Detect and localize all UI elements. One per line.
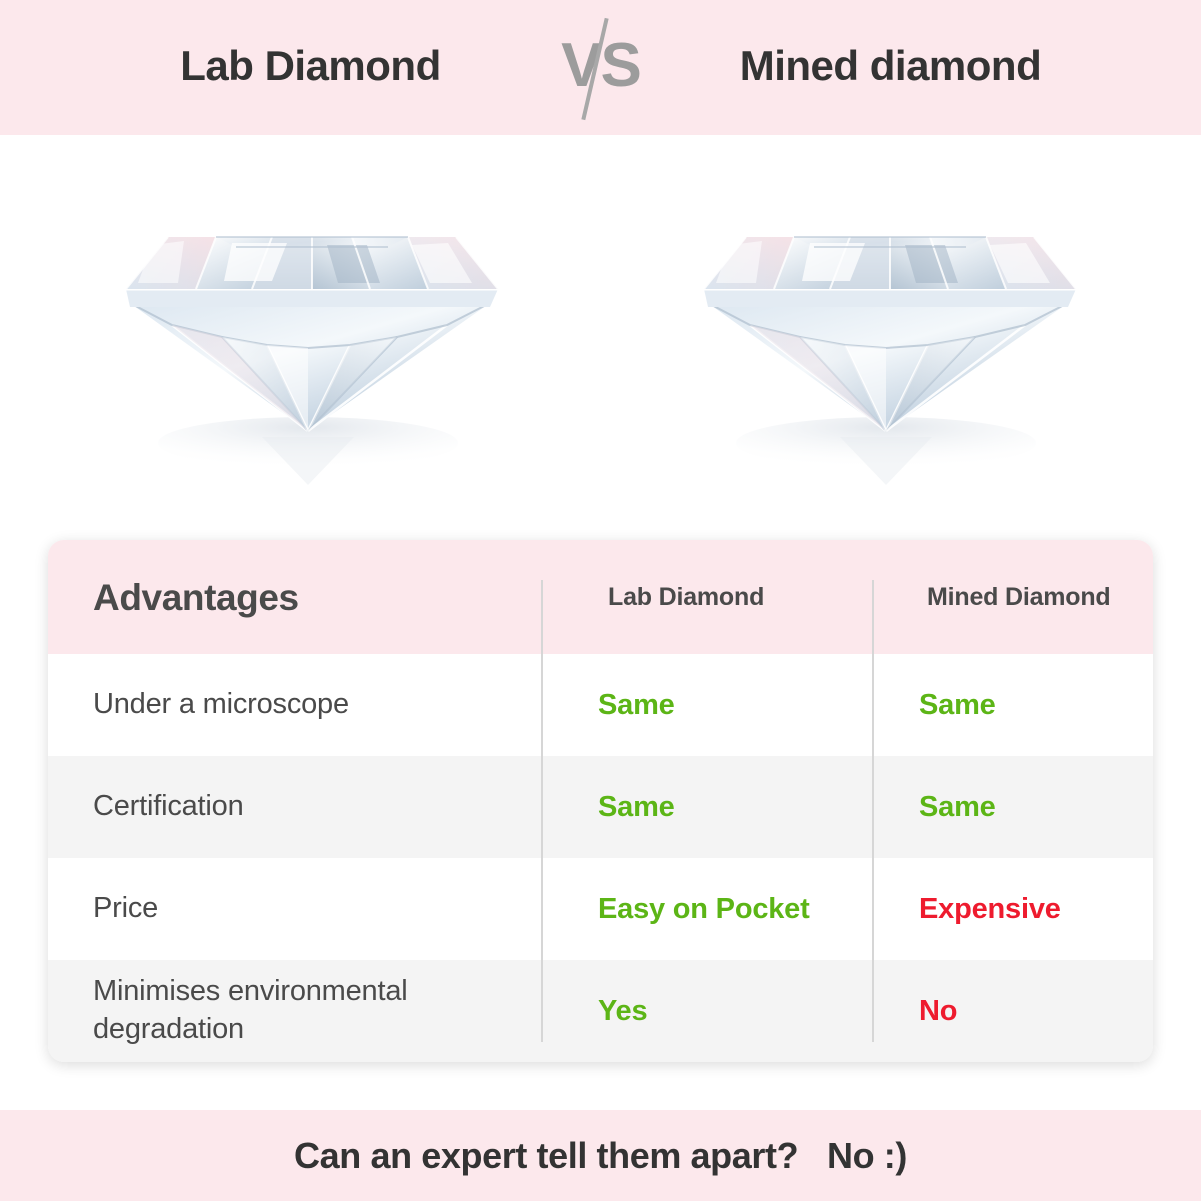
table-row: Minimises environmental degradation Yes …	[48, 960, 1153, 1062]
diamond-icon	[690, 185, 1090, 485]
mined-value-cell: Same	[872, 688, 1153, 723]
table-row: Under a microscope Same Same	[48, 654, 1153, 756]
comparison-table: Advantages Lab Diamond Mined Diamond Und…	[48, 540, 1153, 1062]
lab-value-cell: Yes	[541, 994, 872, 1029]
diamond-icon	[112, 185, 512, 485]
feature-label: Certification	[93, 790, 244, 822]
column-divider-1	[541, 580, 543, 1042]
header-band: Lab Diamond VS Mined diamond	[0, 0, 1201, 135]
column-divider-2	[872, 580, 874, 1042]
feature-cell: Under a microscope	[48, 686, 541, 724]
comparison-infographic: Lab Diamond VS Mined diamond	[0, 0, 1201, 1201]
lab-value-cell: Easy on Pocket	[541, 892, 872, 927]
column-title-mined-diamond: Mined Diamond	[919, 583, 1111, 611]
footer-question: Can an expert tell them apart? No :)	[294, 1138, 907, 1174]
mined-value-cell: Same	[872, 790, 1153, 825]
mined-value: Same	[919, 689, 996, 721]
lab-diamond-image	[112, 185, 512, 485]
column-title-lab-diamond: Lab Diamond	[598, 583, 764, 611]
lab-value-cell: Same	[541, 790, 872, 825]
lab-value-cell: Same	[541, 688, 872, 723]
table-row: Price Easy on Pocket Expensive	[48, 858, 1153, 960]
column-title-advantages: Advantages	[93, 577, 299, 618]
page-title-mined-diamond: Mined diamond	[656, 45, 1126, 87]
comparison-table-card: Advantages Lab Diamond Mined Diamond Und…	[48, 540, 1153, 1062]
table-header-cell-lab: Lab Diamond	[541, 585, 872, 610]
footer-band: Can an expert tell them apart? No :)	[0, 1110, 1201, 1201]
lab-value: Same	[598, 791, 675, 823]
table-header-cell-advantages: Advantages	[48, 579, 541, 616]
table-header-row: Advantages Lab Diamond Mined Diamond	[48, 540, 1153, 654]
header-inner: Lab Diamond VS Mined diamond	[0, 11, 1201, 125]
mined-value: Expensive	[919, 893, 1061, 925]
page-title-lab-diamond: Lab Diamond	[76, 45, 546, 87]
versus-badge: VS	[546, 11, 656, 121]
mined-value: Same	[919, 791, 996, 823]
table-row: Certification Same Same	[48, 756, 1153, 858]
feature-label: Minimises environmental degradation	[93, 975, 408, 1045]
mined-diamond-image	[690, 185, 1090, 485]
diamond-showcase	[0, 135, 1201, 535]
table-header-cell-mined: Mined Diamond	[872, 585, 1153, 610]
mined-value-cell: Expensive	[872, 892, 1153, 927]
feature-cell: Certification	[48, 788, 541, 826]
feature-cell: Price	[48, 890, 541, 928]
feature-cell: Minimises environmental degradation	[48, 973, 541, 1048]
mined-value-cell: No	[872, 994, 1153, 1029]
mined-value: No	[919, 995, 957, 1027]
lab-value: Easy on Pocket	[598, 893, 810, 925]
feature-label: Under a microscope	[93, 688, 349, 720]
feature-label: Price	[93, 892, 158, 924]
lab-value: Same	[598, 689, 675, 721]
lab-value: Yes	[598, 995, 647, 1027]
